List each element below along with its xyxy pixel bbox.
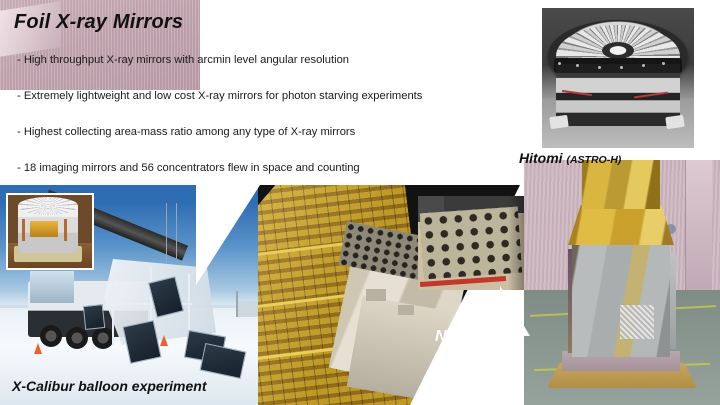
bullet-item: - Extremely lightweight and low cost X-r… [17,90,422,102]
mirror-housing [556,64,680,126]
bullet-item: - High throughput X-ray mirrors with arc… [17,54,349,66]
module-gold-interior [30,221,58,237]
truck-cab [30,271,74,303]
concentrator-tray [420,207,522,280]
background-pole [236,291,238,317]
mirror-hub [602,42,634,59]
hitomi-caption-main: Hitomi [519,150,563,166]
foil-mirror-top-foils [18,197,78,215]
slide-canvas: Foil X-ray Mirrors - High throughput X-r… [0,0,720,405]
module-rib [64,219,67,241]
truck-wheel [66,327,88,349]
page-title: Foil X-ray Mirrors [14,11,183,34]
hitomi-caption: Hitomi (ASTRO-H) [519,150,621,166]
hitomi-caption-sub: (ASTRO-H) [566,154,621,166]
instrument-fitting [398,305,414,315]
bolt [642,64,645,67]
bullet-item: - 18 imaging mirrors and 56 concentrator… [17,162,360,174]
lift-cable [176,203,177,259]
hitomi-mirror-photo [542,8,694,148]
bolt [620,66,623,69]
instrument-fitting [366,289,386,301]
mount-foot [549,115,568,129]
cleanroom-door [685,160,712,292]
spacecraft-radiator [620,305,654,339]
xcalibur-caption: X-Calibur balloon experiment [12,378,206,394]
gold-thermal-body [582,160,660,209]
module-rib [22,219,25,241]
gold-thermal-skirt [568,205,674,245]
photo-shadow [508,196,524,290]
traffic-cone [34,343,42,354]
traffic-cone [160,335,168,346]
bolt [558,62,561,65]
nicer-caption: NICER [435,328,487,346]
gondola-truss [112,275,114,345]
bolt [576,64,579,67]
truck-wheel [40,325,62,347]
truck-wheel [92,327,114,349]
collage-join [196,185,260,285]
hitomi-spacecraft-photo [524,160,720,405]
mount-foot [665,115,684,129]
bolt [598,66,601,69]
lift-cable [166,203,167,263]
solar-panel [83,304,105,330]
collage-join [500,286,530,336]
bolt [662,62,665,65]
xcalibur-mirror-inset-photo [6,193,94,270]
spacecraft-bus [572,239,670,357]
bullet-item: - Highest collecting area-mass ratio amo… [17,126,355,138]
nicer-concentrator-photo [418,196,524,290]
concentrator-modules [420,207,522,280]
